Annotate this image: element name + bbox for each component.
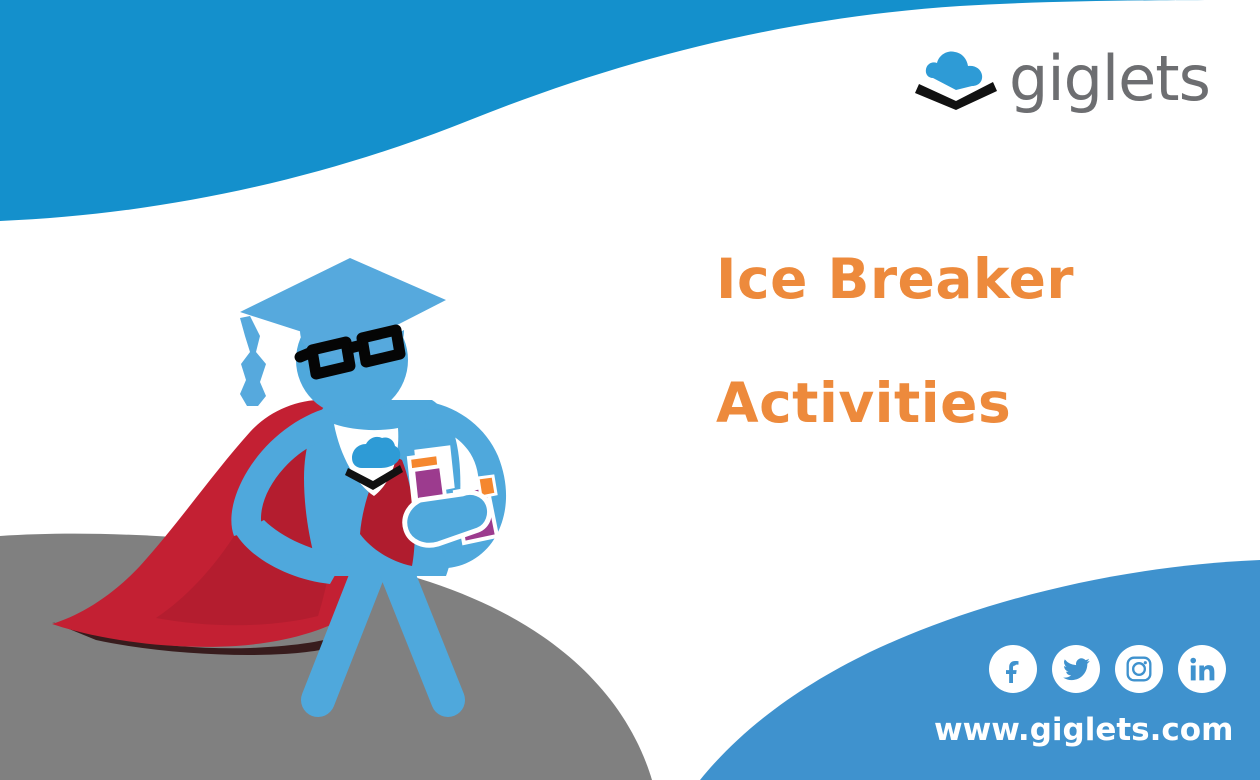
- graduation-cap-tassel-shape: [240, 316, 266, 406]
- facebook-icon: [999, 655, 1027, 683]
- social-link-linkedin[interactable]: [1178, 645, 1226, 693]
- cloud-book-logo-icon: [915, 44, 997, 110]
- page-title-line-2: Activities: [716, 374, 1186, 432]
- leg-right-shape: [392, 560, 448, 700]
- page-title: Ice Breaker Activities: [716, 250, 1186, 433]
- social-links: [989, 645, 1226, 693]
- slide-canvas: giglets Ice Breaker Activities: [0, 0, 1260, 780]
- glasses-temple-shape: [300, 352, 312, 357]
- glasses-bridge-shape: [350, 345, 362, 348]
- brand-logo[interactable]: giglets: [915, 38, 1225, 116]
- brand-wordmark: giglets: [1009, 48, 1210, 110]
- page-title-line-1: Ice Breaker: [716, 250, 1186, 308]
- social-link-facebook[interactable]: [989, 645, 1037, 693]
- graduation-cap-board-shape: [240, 258, 446, 348]
- website-url[interactable]: www.giglets.com: [934, 712, 1233, 748]
- instagram-icon: [1125, 655, 1153, 683]
- logo-cloud-shape: [926, 52, 982, 90]
- social-link-twitter[interactable]: [1052, 645, 1100, 693]
- linkedin-icon: [1189, 656, 1216, 683]
- twitter-icon: [1062, 655, 1091, 684]
- social-link-instagram[interactable]: [1115, 645, 1163, 693]
